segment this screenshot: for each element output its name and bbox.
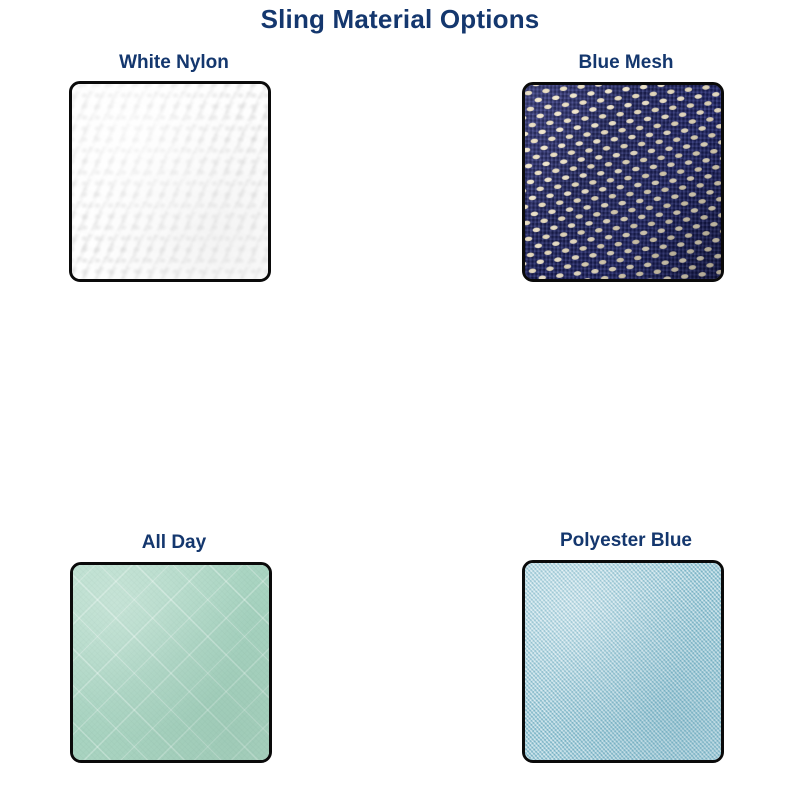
- swatch-card-polyester-blue[interactable]: Polyester Blue: [502, 530, 750, 770]
- swatch-label-all-day: All Day: [50, 532, 298, 554]
- swatch-tile-blue-mesh[interactable]: [522, 82, 724, 282]
- swatch-tile-all-day[interactable]: [70, 562, 272, 763]
- swatch-card-white-nylon[interactable]: White Nylon: [50, 52, 298, 292]
- swatch-texture-white-nylon: [72, 84, 268, 279]
- swatch-texture-all-day: [73, 565, 269, 760]
- swatch-label-blue-mesh: Blue Mesh: [502, 52, 750, 74]
- swatch-card-all-day[interactable]: All Day: [50, 532, 298, 772]
- swatch-card-blue-mesh[interactable]: Blue Mesh: [502, 52, 750, 292]
- page-title: Sling Material Options: [0, 4, 800, 35]
- swatch-label-polyester-blue: Polyester Blue: [502, 530, 750, 552]
- swatch-texture-polyester-blue: [525, 563, 721, 760]
- swatch-tile-polyester-blue[interactable]: [522, 560, 724, 763]
- swatch-texture-blue-mesh: [522, 82, 724, 282]
- swatch-label-white-nylon: White Nylon: [50, 52, 298, 74]
- swatch-tile-white-nylon[interactable]: [69, 81, 271, 282]
